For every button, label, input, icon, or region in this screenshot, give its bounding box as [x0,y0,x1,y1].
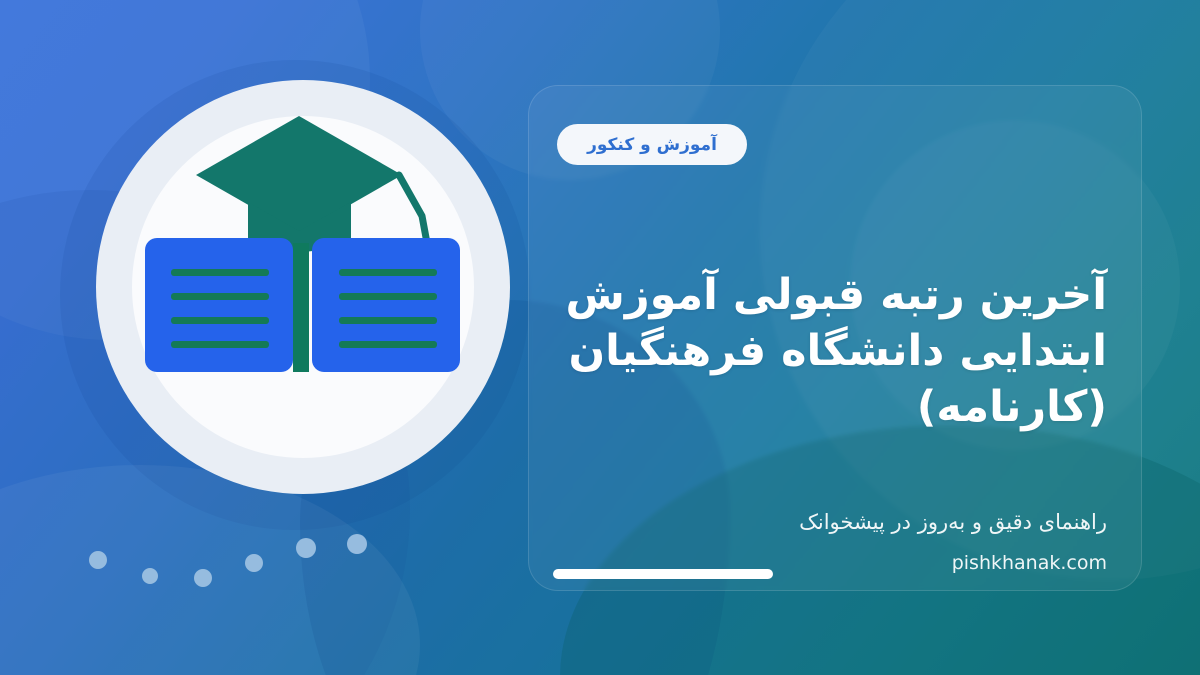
site-domain: pishkhanak.com [952,552,1107,574]
decorative-dot [347,534,367,554]
page-title: آخرین رتبه قبولی آموزش ابتدایی دانشگاه ف… [563,268,1107,436]
page-subtitle: راهنمای دقیق و به‌روز در پیشخوانک [563,510,1107,534]
decorative-dot [296,538,316,558]
decorative-dot [142,568,158,584]
decorative-dot [194,569,212,587]
category-badge[interactable]: آموزش و کنکور [557,124,747,165]
illustration-graduation-book [96,80,510,494]
decorative-dot [245,554,263,572]
graduation-cap-icon [96,80,510,494]
content-card: آموزش و کنکور آخرین رتبه قبولی آموزش ابت… [528,85,1142,591]
accent-divider [553,569,773,579]
decorative-dot [89,551,107,569]
banner-root: آموزش و کنکور آخرین رتبه قبولی آموزش ابت… [0,0,1200,675]
